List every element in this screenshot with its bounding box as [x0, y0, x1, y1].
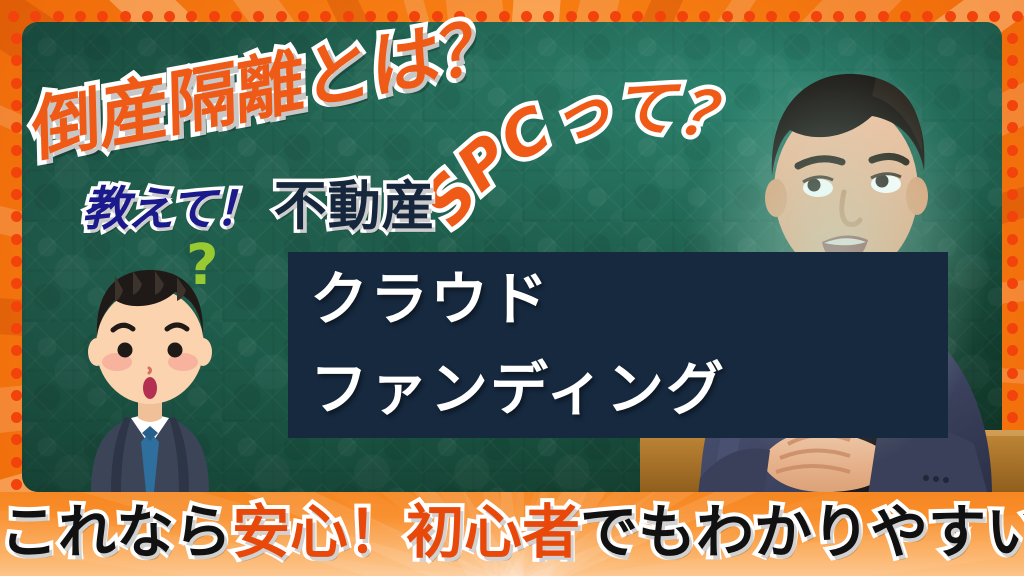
youtube-thumbnail: クラウド ファンディング 倒産隔離とは？ SPCって？ 教えて！ 不動産 ? [0, 0, 1024, 576]
subtitle-row: 教えて！ 不動産 [82, 180, 436, 233]
bottom-banner: これなら安心！初心者でもわかりやすい [0, 492, 1024, 576]
surprised-businessman-illustration [55, 240, 245, 492]
title-line-2: ファンディング [310, 360, 726, 418]
bottom-text-part1: これなら [0, 498, 232, 566]
bottom-text-part2: 安心！初心者 [232, 498, 580, 566]
subtitle-navy: 不動産 [274, 180, 436, 233]
subtitle-blue: 教えて！ [82, 186, 260, 233]
title-box: クラウド ファンディング [288, 252, 948, 438]
bottom-text-part3: でもわかりやすい [580, 498, 1024, 566]
title-line-1: クラウド [310, 270, 550, 328]
arch-text-spc: SPCって？ [440, 86, 800, 256]
bottom-banner-text: これなら安心！初心者でもわかりやすい [0, 498, 1024, 568]
arch-text-label: SPCって？ [408, 71, 748, 239]
